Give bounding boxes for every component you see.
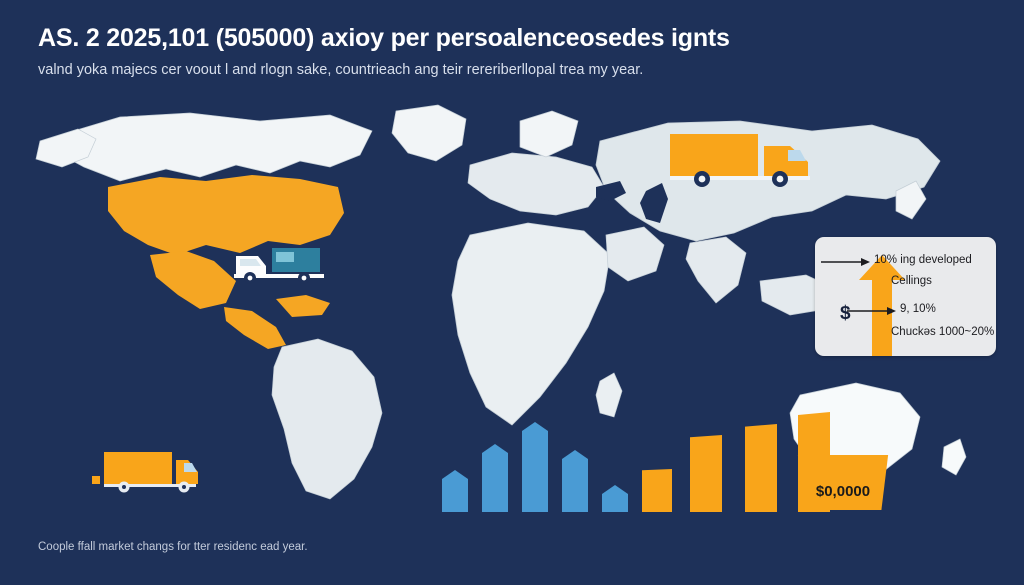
land-arabia <box>606 227 664 281</box>
callout-line-3: 9, 10% <box>900 303 936 315</box>
page-title: AS. 2 2025,101 (505000) axioy per persoa… <box>38 24 978 53</box>
land-europe <box>468 153 604 215</box>
dollar-sign-icon: $ <box>840 303 851 325</box>
callout-line-4: Chuckəs 1000~20% <box>891 326 994 338</box>
delivery-truck-icon-bottom-left <box>78 446 198 496</box>
basket-amount-label: $0,0000 <box>795 483 891 500</box>
chart-bar <box>690 435 722 512</box>
chart-bar <box>642 469 672 512</box>
chart-bar <box>562 459 588 512</box>
chart-bar-cap <box>602 485 628 494</box>
cargo-truck-icon-usa <box>232 244 328 288</box>
infographic-canvas: $0,0000 <box>0 0 1024 585</box>
callout-line-2: Cellings <box>891 275 932 287</box>
chart-bar <box>442 479 468 512</box>
chart-bar <box>745 424 777 512</box>
chart-bar <box>482 453 508 512</box>
chart-bar-cap <box>562 450 588 459</box>
land-caribbean <box>276 295 330 317</box>
money-basket: $0,0000 <box>795 455 891 510</box>
delivery-truck-icon-top-right <box>668 130 816 192</box>
chart-bar-cap <box>482 444 508 453</box>
footer-note: Coople ffall market changs for tter resi… <box>38 541 638 553</box>
land-greenland <box>392 105 466 161</box>
land-new-zealand <box>942 439 966 475</box>
callout-line-1: 10% ing developed <box>874 254 972 266</box>
pointer-arrow-top-icon <box>821 256 871 268</box>
chart-bar-cap <box>522 422 548 431</box>
chart-bar <box>602 494 628 512</box>
chart-bar-cap <box>442 470 468 479</box>
land-central-america <box>224 307 286 349</box>
land-india <box>686 237 746 303</box>
land-scandinavia <box>520 111 578 157</box>
land-canada <box>58 113 372 181</box>
land-africa <box>452 223 610 425</box>
land-south-america <box>272 339 382 499</box>
land-mexico <box>150 251 236 309</box>
land-usa-highlight <box>108 175 344 255</box>
chart-bar <box>522 431 548 512</box>
growth-bar-chart <box>430 400 850 512</box>
pointer-arrow-mid-icon <box>847 305 897 317</box>
statistics-callout-panel: $ 10% ing developed Cellings 9, 10% Chuc… <box>815 237 996 356</box>
page-subtitle: valnd yoka majecs cer voout l and rlogn … <box>38 62 988 78</box>
